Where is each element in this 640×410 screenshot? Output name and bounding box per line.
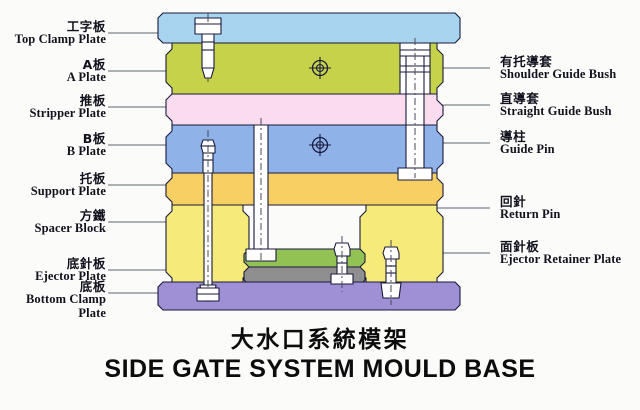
label-shoulder-guide-bush: 有托導套 Shoulder Guide Bush bbox=[500, 55, 640, 82]
label-top-clamp-plate: 工字板 Top Clamp Plate bbox=[0, 20, 106, 47]
bottom-clamp-screw bbox=[197, 288, 219, 301]
label-en: B Plate bbox=[0, 145, 106, 158]
label-en: A Plate bbox=[0, 71, 106, 84]
label-spacer-block: 方鐵 Spacer Block bbox=[0, 209, 106, 236]
label-en: Support Plate bbox=[0, 185, 106, 198]
label-straight-guide-bush: 直導套 Straight Guide Bush bbox=[500, 92, 640, 119]
label-cn: 方鐵 bbox=[0, 209, 106, 222]
label-stripper-plate: 推板 Stripper Plate bbox=[0, 94, 106, 121]
label-b-plate: B板 B Plate bbox=[0, 132, 106, 159]
label-cn: 底板 bbox=[0, 280, 106, 293]
label-en: Straight Guide Bush bbox=[500, 105, 640, 118]
label-cn: B板 bbox=[0, 132, 106, 145]
label-return-pin: 回針 Return Pin bbox=[500, 195, 640, 222]
label-cn: 托板 bbox=[0, 172, 106, 185]
label-en: Spacer Block bbox=[0, 222, 106, 235]
label-cn: 面針板 bbox=[500, 240, 640, 253]
label-cn: 直導套 bbox=[500, 92, 640, 105]
label-cn: 有托導套 bbox=[500, 55, 640, 68]
label-cn: 回針 bbox=[500, 195, 640, 208]
label-en: Stripper Plate bbox=[0, 107, 106, 120]
title-en: SIDE GATE SYSTEM MOULD BASE bbox=[0, 355, 640, 384]
spacer-block-right bbox=[360, 205, 443, 282]
mould-base-figure: 工字板 Top Clamp Plate A板 A Plate 推板 Stripp… bbox=[0, 0, 640, 410]
figure-title: 大水口系統模架 SIDE GATE SYSTEM MOULD BASE bbox=[0, 320, 640, 384]
label-en: Top Clamp Plate bbox=[0, 33, 106, 46]
label-support-plate: 托板 Support Plate bbox=[0, 172, 106, 199]
label-en: Bottom Clamp Plate bbox=[0, 293, 106, 320]
label-en: Guide Pin bbox=[500, 143, 640, 156]
label-cn: 推板 bbox=[0, 94, 106, 107]
label-ejector-retainer-plate: 面針板 Ejector Retainer Plate bbox=[500, 240, 640, 267]
label-cn: A板 bbox=[0, 58, 106, 71]
label-en: Ejector Retainer Plate bbox=[500, 253, 640, 266]
label-a-plate: A板 A Plate bbox=[0, 58, 106, 85]
label-cn: 工字板 bbox=[0, 20, 106, 33]
label-en: Shoulder Guide Bush bbox=[500, 68, 640, 81]
label-bottom-clamp-plate: 底板 Bottom Clamp Plate bbox=[0, 280, 106, 320]
label-en: Return Pin bbox=[500, 208, 640, 221]
plate-stripper bbox=[166, 94, 443, 125]
label-cn: 導柱 bbox=[500, 130, 640, 143]
label-cn: 底針板 bbox=[0, 257, 106, 270]
label-guide-pin: 導柱 Guide Pin bbox=[500, 130, 640, 157]
title-cn: 大水口系統模架 bbox=[0, 320, 640, 354]
